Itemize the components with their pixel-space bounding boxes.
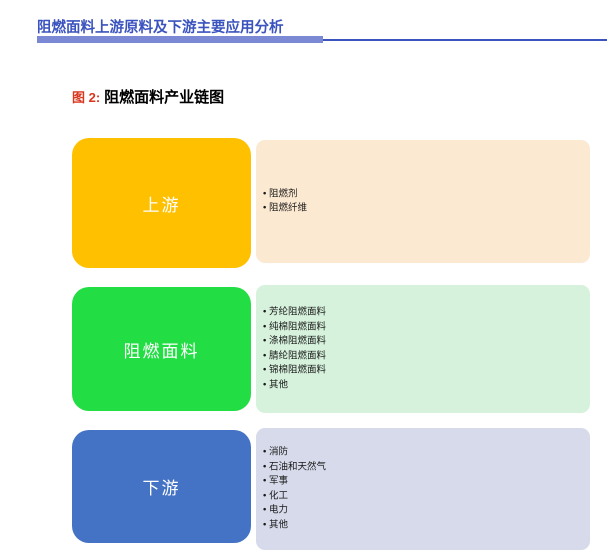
list-item: 芳纶阻燃面料	[262, 306, 584, 321]
list-item: 消防	[262, 446, 584, 461]
list-item: 化工	[262, 489, 584, 504]
chain-row-downstream: 消防石油和天然气军事化工电力其他下游	[0, 428, 607, 550]
chain-stage-box-downstream: 下游	[72, 430, 251, 543]
list-item: 腈纶阻燃面料	[262, 349, 584, 364]
list-item: 阻燃剂	[262, 187, 584, 202]
industry-chain-diagram: 阻燃剂阻燃纤维上游芳纶阻燃面料纯棉阻燃面料涤棉阻燃面料腈纶阻燃面料锦棉阻燃面料其…	[0, 0, 607, 554]
list-item: 纯棉阻燃面料	[262, 320, 584, 335]
chain-panel-midstream: 芳纶阻燃面料纯棉阻燃面料涤棉阻燃面料腈纶阻燃面料锦棉阻燃面料其他	[256, 285, 590, 413]
chain-panel-upstream: 阻燃剂阻燃纤维	[256, 140, 590, 263]
chain-stage-box-upstream: 上游	[72, 138, 251, 268]
chain-stage-label: 阻燃面料	[124, 337, 200, 362]
chain-row-midstream: 芳纶阻燃面料纯棉阻燃面料涤棉阻燃面料腈纶阻燃面料锦棉阻燃面料其他阻燃面料	[0, 285, 607, 415]
chain-item-list-upstream: 阻燃剂阻燃纤维	[262, 187, 584, 216]
chain-stage-label: 下游	[143, 474, 181, 499]
chain-row-upstream: 阻燃剂阻燃纤维上游	[0, 138, 607, 270]
chain-item-list-midstream: 芳纶阻燃面料纯棉阻燃面料涤棉阻燃面料腈纶阻燃面料锦棉阻燃面料其他	[262, 306, 584, 393]
chain-stage-box-midstream: 阻燃面料	[72, 287, 251, 411]
chain-stage-label: 上游	[143, 191, 181, 216]
list-item: 其他	[262, 378, 584, 393]
list-item: 石油和天然气	[262, 460, 584, 475]
chain-panel-downstream: 消防石油和天然气军事化工电力其他	[256, 428, 590, 550]
list-item: 军事	[262, 475, 584, 490]
list-item: 阻燃纤维	[262, 202, 584, 217]
chain-item-list-downstream: 消防石油和天然气军事化工电力其他	[262, 446, 584, 533]
list-item: 锦棉阻燃面料	[262, 364, 584, 379]
list-item: 涤棉阻燃面料	[262, 335, 584, 350]
list-item: 电力	[262, 504, 584, 519]
list-item: 其他	[262, 518, 584, 533]
